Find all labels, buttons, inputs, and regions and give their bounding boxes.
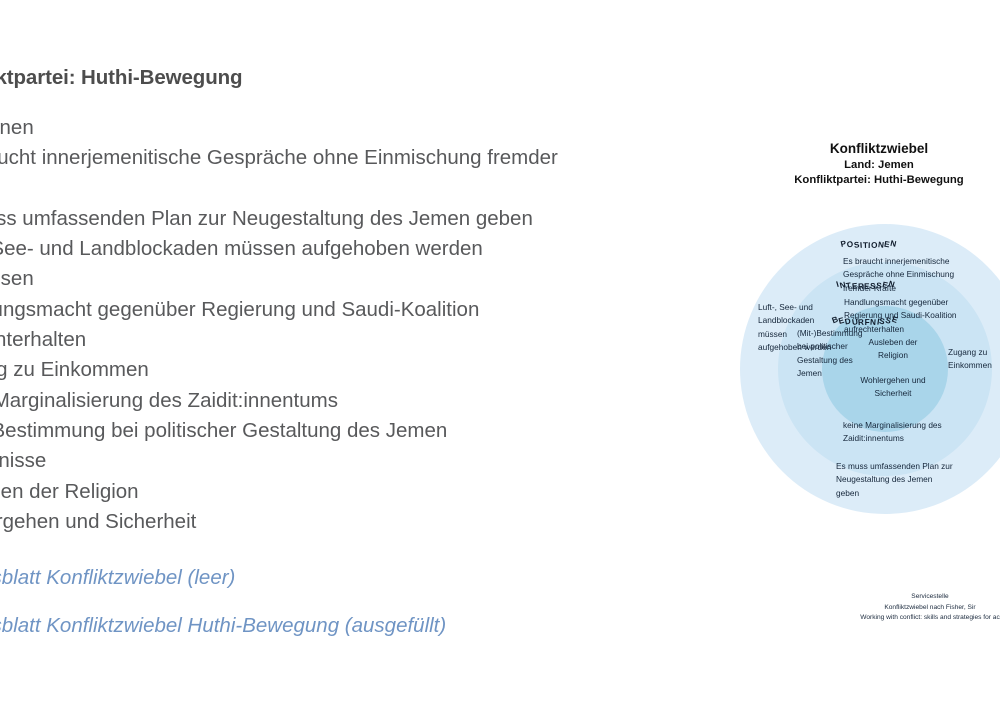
article-line: Luft-, See- und Landblockaden müssen auf…: [0, 234, 638, 264]
article-line-list: Positionen Es braucht innerjemenitische …: [0, 113, 638, 538]
ring-label-positionen: POSITIONEN: [841, 241, 897, 250]
article-line: Wohlergehen und Sicherheit: [0, 507, 638, 537]
entry-interessen-marginalisierung: keine Marginalisierung des Zaidit:innent…: [843, 419, 953, 446]
diagram-subtitle-party: Konfliktpartei: Huthi-Bewegung: [744, 173, 1000, 189]
article-line: Es muss umfassenden Plan zur Neugestaltu…: [0, 204, 638, 234]
article-line: Bedürfnisse: [0, 446, 638, 476]
entry-beduerfnisse-religion: Ausleben der Religion: [856, 336, 930, 363]
article-line: Handlungsmacht gegenüber Regierung und S…: [0, 295, 638, 325]
worksheet-links: Arbeitsblatt Konfliktzwiebel (leer) Arbe…: [0, 563, 638, 640]
link-worksheet-filled[interactable]: Arbeitsblatt Konfliktzwiebel Huthi-Beweg…: [0, 611, 638, 641]
article-line: Es braucht innerjemenitische Gespräche o…: [0, 143, 638, 173]
article-line: keine Marginalisierung des Zaidit:innent…: [0, 386, 638, 416]
entry-beduerfnisse-wohlergehen: Wohlergehen und Sicherheit: [850, 374, 936, 401]
onion-rings: POSITIONEN INTERESSEN BEDÜRFNISSE Es bra…: [740, 224, 1000, 524]
source-line: Working with conflict: skills and strate…: [770, 613, 1000, 624]
diagram-subtitle-country: Land: Jemen: [744, 158, 1000, 174]
entry-positionen-plan: Es muss umfassenden Plan zur Neugestaltu…: [836, 460, 954, 500]
link-worksheet-empty[interactable]: Arbeitsblatt Konfliktzwiebel (leer): [0, 563, 638, 593]
article-text-column: Konfliktpartei: Huthi-Bewegung Positione…: [0, 66, 638, 659]
article-line: Kräfte: [0, 173, 638, 203]
konfliktzwiebel-diagram: Konfliktzwiebel Land: Jemen Konfliktpart…: [740, 140, 1000, 640]
diagram-source-note: Servicestelle Konfliktzwiebel nach Fishe…: [770, 592, 1000, 624]
entry-interessen-mitbestimmung: (Mit-)Bestimmung bei politischer Gestalt…: [797, 327, 857, 381]
article-line: Zugang zu Einkommen: [0, 355, 638, 385]
source-line: Servicestelle: [770, 592, 1000, 603]
article-line: Interessen: [0, 264, 638, 294]
source-line: Konfliktzwiebel nach Fisher, Sir: [770, 603, 1000, 614]
article-line: aufrechterhalten: [0, 325, 638, 355]
entry-positionen-main: Es braucht innerjemenitische Gespräche o…: [843, 255, 973, 295]
article-line: Ausleben der Religion: [0, 477, 638, 507]
page-title: Konfliktpartei: Huthi-Bewegung: [0, 66, 638, 91]
diagram-title-block: Konfliktzwiebel Land: Jemen Konfliktpart…: [744, 140, 1000, 189]
diagram-title: Konfliktzwiebel: [744, 140, 1000, 158]
article-line: (Mit-) Bestimmung bei politischer Gestal…: [0, 416, 638, 446]
entry-interessen-main: Handlungsmacht gegenüber Regierung und S…: [844, 296, 970, 336]
article-line: Positionen: [0, 113, 638, 143]
entry-interessen-einkommen: Zugang zu Einkommen: [948, 346, 1000, 373]
